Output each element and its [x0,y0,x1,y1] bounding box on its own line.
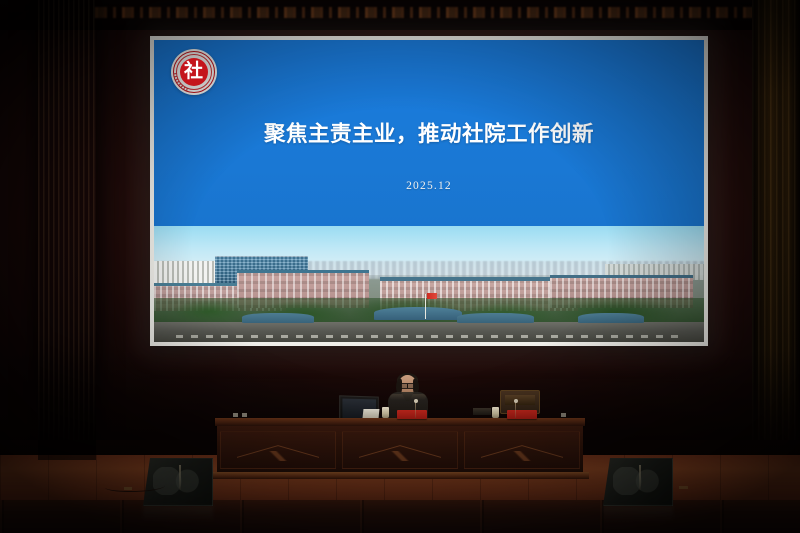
photo-canopy-right [578,313,644,323]
speaker-handle-right [639,465,641,490]
desk-front-panels [217,426,583,474]
document-sheet [363,409,380,418]
ceiling-lights [95,7,755,18]
floor-connector-left [124,487,132,490]
photo-flag-icon [427,293,437,299]
stage-front-edge [0,500,800,533]
photo-canopy-center [457,313,534,323]
desk-socket-left[interactable] [233,413,238,417]
speaker-reflection-left [143,506,213,522]
desk-panel [464,431,580,469]
photo-flagpole [425,294,426,318]
floor-connector-right [679,486,688,489]
microphone-center [415,402,416,418]
desk-panel [342,431,458,469]
paper-cup-right [492,407,499,418]
speaker-handle-left [179,465,181,490]
campus-photo [154,226,704,342]
photo-canopy-left [242,313,314,323]
photo-plaza [154,322,704,342]
stage-monitor-right [603,458,673,506]
red-nameplate-right [507,410,537,419]
speaker-glasses-icon [400,383,415,387]
red-nameplate-center [397,410,427,419]
desk-panel [220,431,336,469]
microphone-head [414,399,418,403]
slide-date: 2025.12 [154,180,704,192]
presentation-slide: 社 聚焦主责主业，推动社院工作创新 2025.12 [154,40,704,342]
paper-cup-left [382,407,389,418]
desk-tray [473,408,491,415]
auditorium-scene: 社 聚焦主责主业，推动社院工作创新 2025.12 [0,0,800,533]
desk-base-trim [211,472,589,479]
desk-chevron-ornament [359,451,441,461]
desk-chevron-ornament [481,451,563,461]
microphone-head-right [514,399,518,403]
desk-chevron-ornament [237,451,319,461]
institute-emblem-icon: 社 [171,49,217,95]
speaker-grille-right [613,467,662,496]
stage-curtain-left [38,0,96,460]
desk-top-surface [215,418,585,426]
desk-socket-left-2[interactable] [242,413,247,417]
projection-screen[interactable]: 社 聚焦主责主业，推动社院工作创新 2025.12 [150,36,708,346]
slide-title: 聚焦主责主业，推动社院工作创新 [154,117,704,148]
microphone-right [515,402,516,418]
speaker-reflection-right [603,506,673,522]
presidium-desk [215,418,585,480]
emblem-character: 社 [180,58,208,86]
desk-socket-right[interactable] [561,413,566,417]
photo-entrance-canopy [374,307,462,320]
